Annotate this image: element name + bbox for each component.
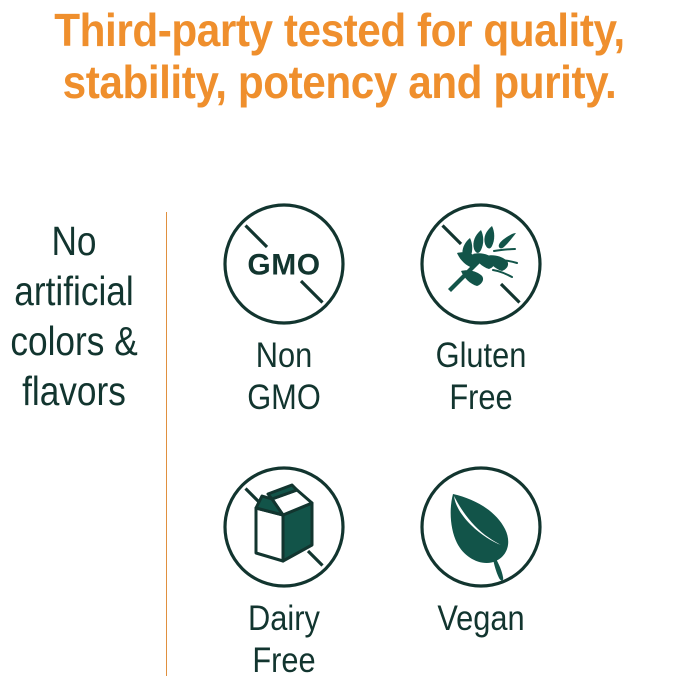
badge-gluten-free: Gluten Free xyxy=(383,200,579,419)
caption-line-3: colors & xyxy=(10,316,137,366)
badge-label-non-gmo: Non GMO xyxy=(198,335,370,419)
gluten-free-wheat-icon xyxy=(417,200,545,328)
vegan-leaf-icon xyxy=(417,463,545,591)
badge-label-line-2: Free xyxy=(395,377,567,419)
badge-non-gmo: GMO Non GMO xyxy=(186,200,382,419)
badge-label-line-1: Vegan xyxy=(395,598,567,640)
no-artificial-colors-caption: No artificial colors & flavors xyxy=(10,216,137,416)
page-headline: Third-party tested for quality, stabilit… xyxy=(27,4,652,108)
caption-line-1: No xyxy=(10,216,137,266)
badge-dairy-free: Dairy Free xyxy=(186,463,382,682)
badge-label-dairy-free: Dairy Free xyxy=(198,598,370,682)
badge-label-line-1: Dairy xyxy=(198,598,370,640)
badge-label-line-1: Non xyxy=(198,335,370,377)
caption-line-2: artificial xyxy=(10,266,137,316)
badge-label-gluten-free: Gluten Free xyxy=(395,335,567,419)
headline-line-1: Third-party tested for quality, xyxy=(27,4,652,56)
badge-label-line-2: GMO xyxy=(198,377,370,419)
milk-carton-glyph xyxy=(256,485,312,561)
badge-label-vegan: Vegan xyxy=(395,598,567,640)
badge-vegan: Vegan xyxy=(383,463,579,640)
badge-label-line-2: Free xyxy=(198,640,370,682)
badge-label-line-1: Gluten xyxy=(395,335,567,377)
leaf-glyph xyxy=(451,494,509,581)
gmo-text: GMO xyxy=(247,249,320,282)
non-gmo-icon: GMO xyxy=(220,200,348,328)
caption-line-4: flavors xyxy=(10,366,137,416)
badge-grid: GMO Non GMO xyxy=(186,200,656,687)
headline-line-2: stability, potency and purity. xyxy=(27,56,652,108)
dairy-free-carton-icon xyxy=(220,463,348,591)
vertical-divider xyxy=(166,212,167,676)
wheat-glyph xyxy=(448,226,516,292)
